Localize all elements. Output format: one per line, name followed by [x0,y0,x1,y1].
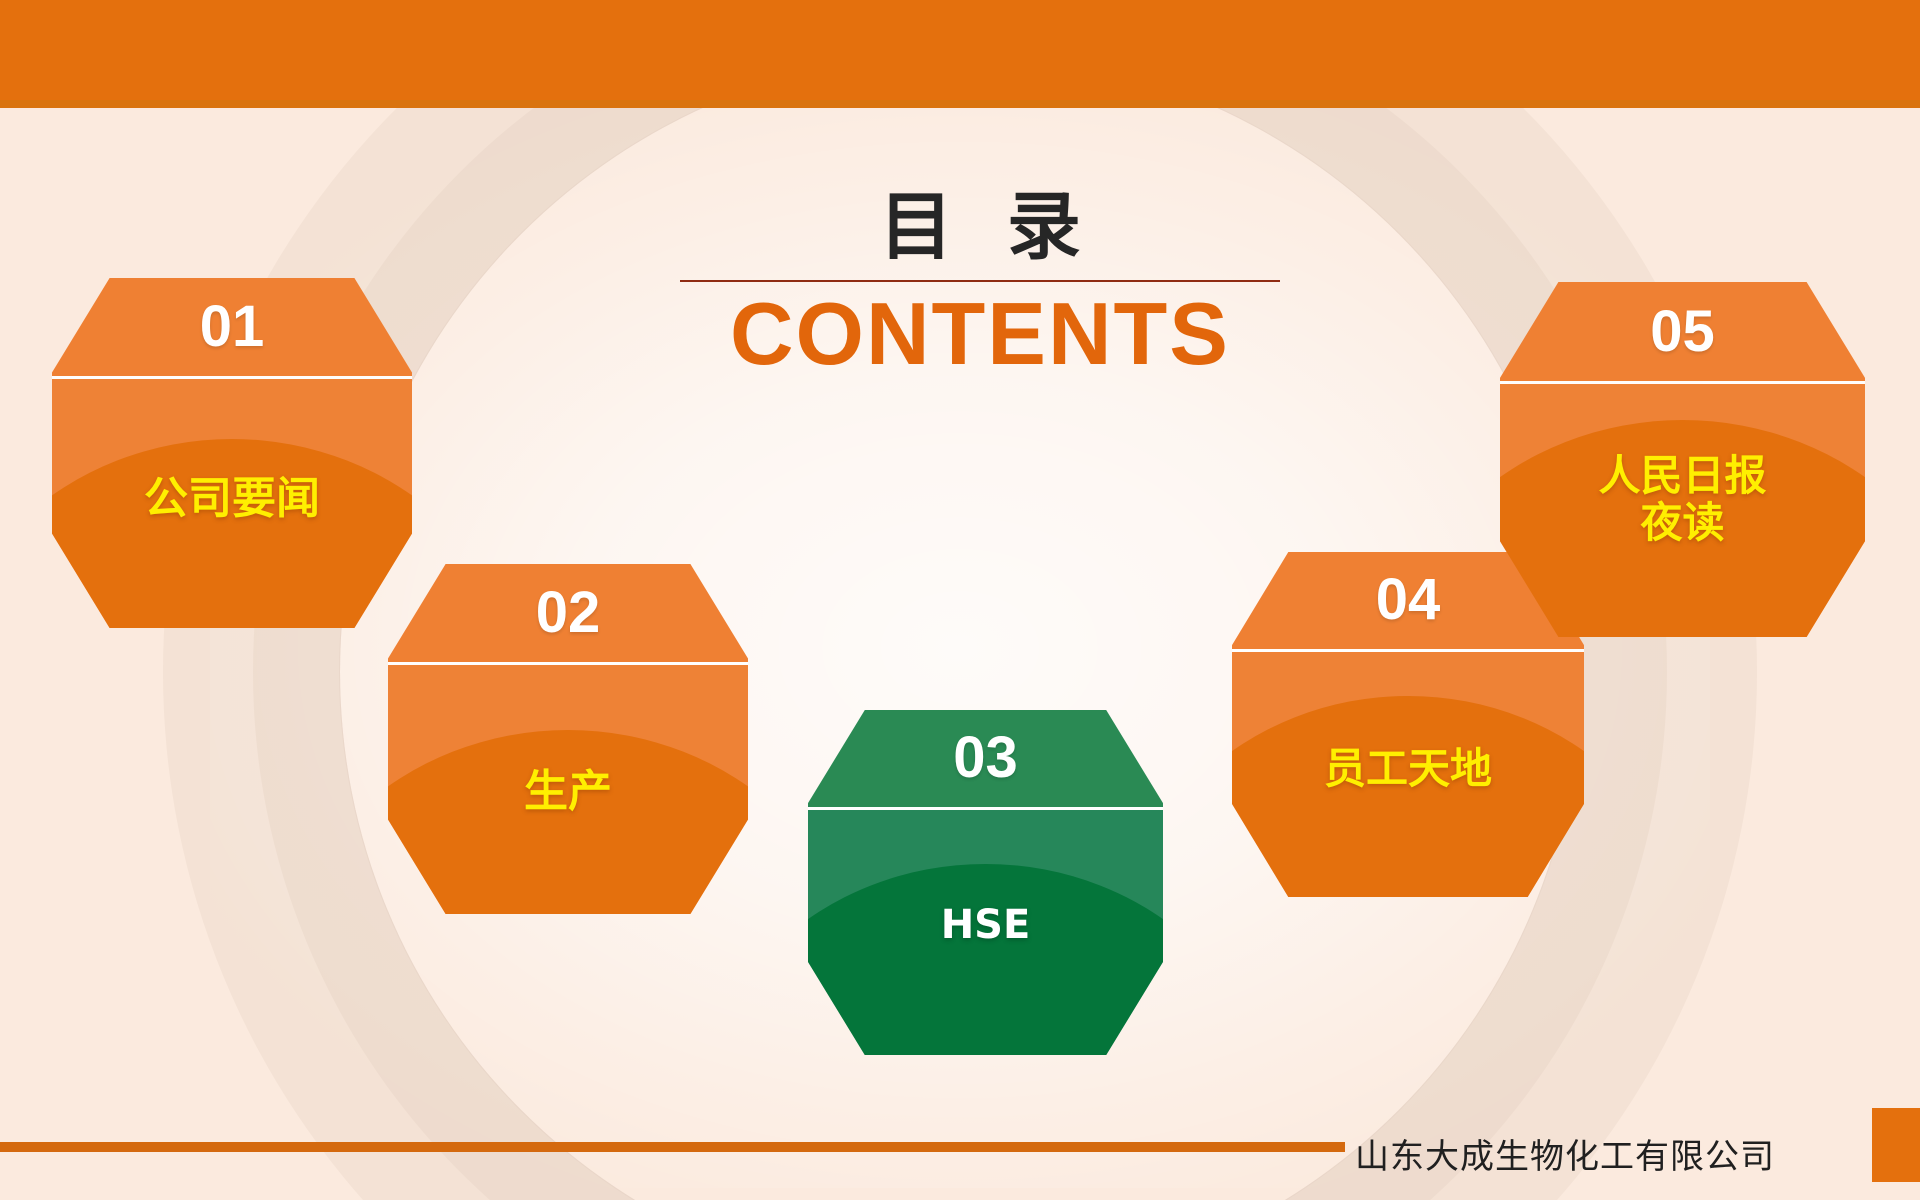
contents-item-01[interactable]: 01 公司要闻 [52,278,412,628]
contents-item-04[interactable]: 04 员工天地 [1232,552,1584,897]
hex-arc-04 [1232,696,1584,897]
bottom-right-accent-block [1872,1108,1920,1182]
slide-canvas: 目 录 CONTENTS 01 公司要闻 02 生产 03 HSE [0,0,1920,1200]
hex-arc-01 [52,439,412,628]
hex-number-04: 04 [1376,571,1441,629]
hex-label-01: 公司要闻 [52,474,412,523]
hex-number-01: 01 [200,298,265,356]
hex-label-03: HSE [808,903,1163,948]
contents-item-05[interactable]: 05 人民日报夜读 [1500,282,1865,637]
hex-label-04: 员工天地 [1232,745,1584,792]
hex-number-02: 02 [536,584,601,642]
footer-rule [0,1142,1345,1152]
hex-arc-03 [808,864,1163,1055]
top-banner-bar-shade [0,100,1920,108]
contents-item-03[interactable]: 03 HSE [808,710,1163,1055]
footer-company-name: 山东大成生物化工有限公司 [1355,1129,1775,1178]
hex-number-03: 03 [953,729,1018,787]
hex-number-band-05: 05 [1500,282,1865,381]
hex-label-05: 人民日报夜读 [1500,452,1865,546]
hex-number-band-03: 03 [808,710,1163,807]
hex-number-band-01: 01 [52,278,412,376]
slide-title-block: 目 录 CONTENTS [680,190,1280,380]
hex-number-band-02: 02 [388,564,748,662]
page-title-chinese: 目 录 [680,190,1280,264]
title-divider-rule [680,280,1280,282]
contents-item-02[interactable]: 02 生产 [388,564,748,914]
top-banner-bar [0,0,1920,108]
page-title-english: CONTENTS [680,288,1280,380]
hex-label-02: 生产 [388,767,748,816]
hex-arc-02 [388,730,748,914]
hex-number-05: 05 [1650,303,1715,361]
